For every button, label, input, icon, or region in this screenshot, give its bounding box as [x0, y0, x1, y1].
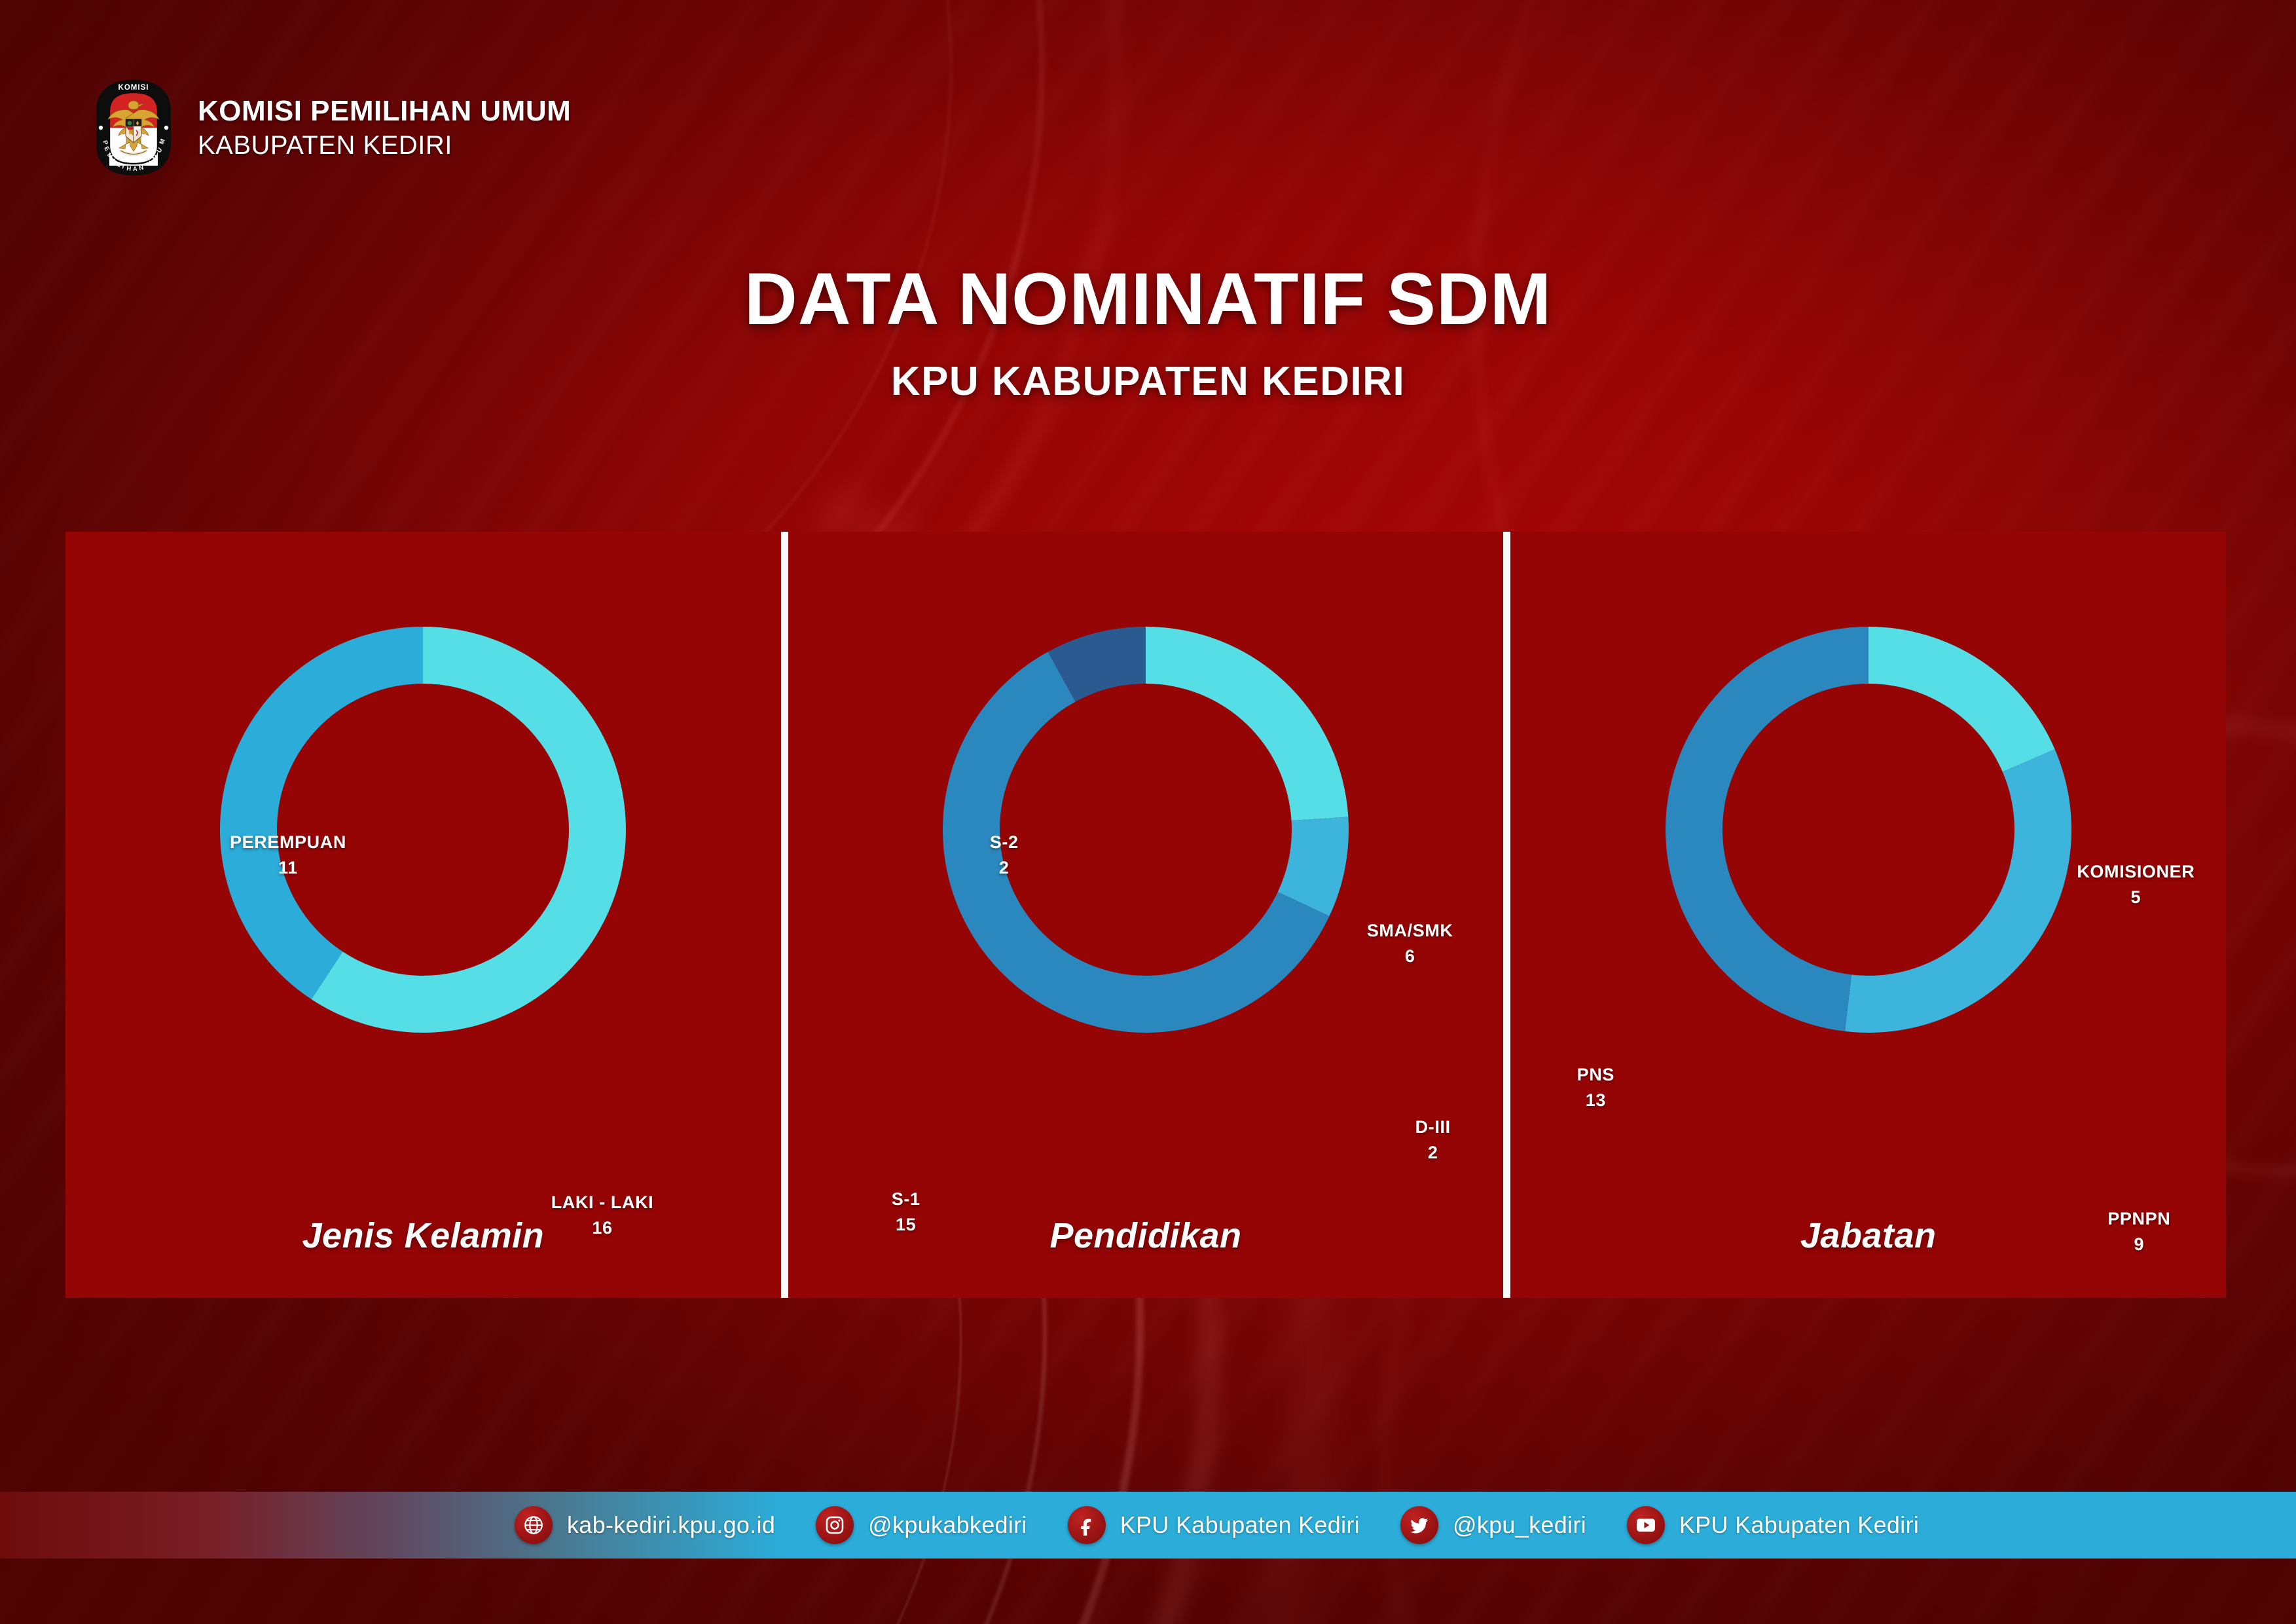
label-d3: D-III 2 — [1358, 1115, 1508, 1166]
instagram-icon — [816, 1506, 854, 1544]
label-komisioner: KOMISIONER 5 — [2028, 859, 2244, 910]
footer-item-instagram[interactable]: @kpukabkediri — [816, 1506, 1027, 1544]
chart-area-2: S-2 2 SMA/SMK 6 D-III 2 S-1 15 — [788, 532, 1504, 1298]
label-s2: S-2 2 — [919, 830, 1089, 881]
page-title: DATA NOMINATIF SDM — [0, 257, 2296, 341]
youtube-icon — [1627, 1506, 1665, 1544]
footer-item-website[interactable]: kab-kediri.kpu.go.id — [515, 1506, 775, 1544]
footer-bar: kab-kediri.kpu.go.id @kpukabkediri KPU K… — [0, 1492, 2296, 1559]
slice-perempuan — [220, 627, 423, 999]
globe-icon — [515, 1506, 553, 1544]
twitter-icon — [1400, 1506, 1438, 1544]
chart-area-1: PEREMPUAN 11 LAKI - LAKI 16 — [65, 532, 781, 1298]
charts-panel: PEREMPUAN 11 LAKI - LAKI 16 Jenis Kelami… — [65, 532, 2226, 1298]
chart-area-3: KOMISIONER 5 PPNPN 9 PNS 13 — [1510, 532, 2226, 1298]
chart-caption-pendidikan: Pendidikan — [788, 1215, 1504, 1256]
donut-svg-3 — [1643, 604, 2094, 1056]
label-sma-smk: SMA/SMK 6 — [1312, 918, 1508, 969]
svg-text:KOMISI: KOMISI — [118, 84, 149, 92]
footer-label-twitter: @kpu_kediri — [1453, 1511, 1586, 1539]
slice-sma-smk — [1146, 627, 1348, 821]
column-divider-1 — [781, 532, 788, 1298]
label-pns: PNS 13 — [1530, 1062, 1661, 1113]
chart-column-jenis-kelamin: PEREMPUAN 11 LAKI - LAKI 16 Jenis Kelami… — [65, 532, 781, 1298]
title-block: DATA NOMINATIF SDM KPU KABUPATEN KEDIRI — [0, 257, 2296, 405]
brand-line-2: KABUPATEN KEDIRI — [198, 131, 571, 160]
brand-line-1: KOMISI PEMILIHAN UMUM — [198, 95, 571, 127]
brand-text-block: KOMISI PEMILIHAN UMUM KABUPATEN KEDIRI — [198, 95, 571, 160]
footer-item-facebook[interactable]: KPU Kabupaten Kediri — [1068, 1506, 1360, 1544]
chart-caption-jabatan: Jabatan — [1510, 1215, 2226, 1256]
svg-text:A: A — [133, 166, 137, 173]
chart-column-pendidikan: S-2 2 SMA/SMK 6 D-III 2 S-1 15 Pendidika… — [788, 532, 1504, 1298]
donut-chart-jabatan — [1643, 604, 2094, 1056]
footer-label-youtube: KPU Kabupaten Kediri — [1679, 1511, 1919, 1539]
brand-header: KOMISI P E M I L I H A N U M U M KOMISI … — [92, 79, 571, 177]
footer-item-twitter[interactable]: @kpu_kediri — [1400, 1506, 1586, 1544]
label-perempuan: PEREMPUAN 11 — [183, 830, 393, 881]
facebook-icon — [1068, 1506, 1106, 1544]
kpu-garuda-logo-icon: KOMISI P E M I L I H A N U M U M — [92, 79, 175, 177]
column-divider-2 — [1503, 532, 1510, 1298]
chart-column-jabatan: KOMISIONER 5 PPNPN 9 PNS 13 Jabatan — [1510, 532, 2226, 1298]
footer-label-instagram: @kpukabkediri — [868, 1511, 1027, 1539]
footer-label-website: kab-kediri.kpu.go.id — [567, 1511, 775, 1539]
footer-item-youtube[interactable]: KPU Kabupaten Kediri — [1627, 1506, 1919, 1544]
slice-komisioner — [1868, 627, 2055, 772]
slice-pns — [1666, 627, 1868, 1031]
page-subtitle: KPU KABUPATEN KEDIRI — [0, 358, 2296, 405]
chart-caption-jenis-kelamin: Jenis Kelamin — [65, 1215, 781, 1256]
footer-label-facebook: KPU Kabupaten Kediri — [1120, 1511, 1360, 1539]
